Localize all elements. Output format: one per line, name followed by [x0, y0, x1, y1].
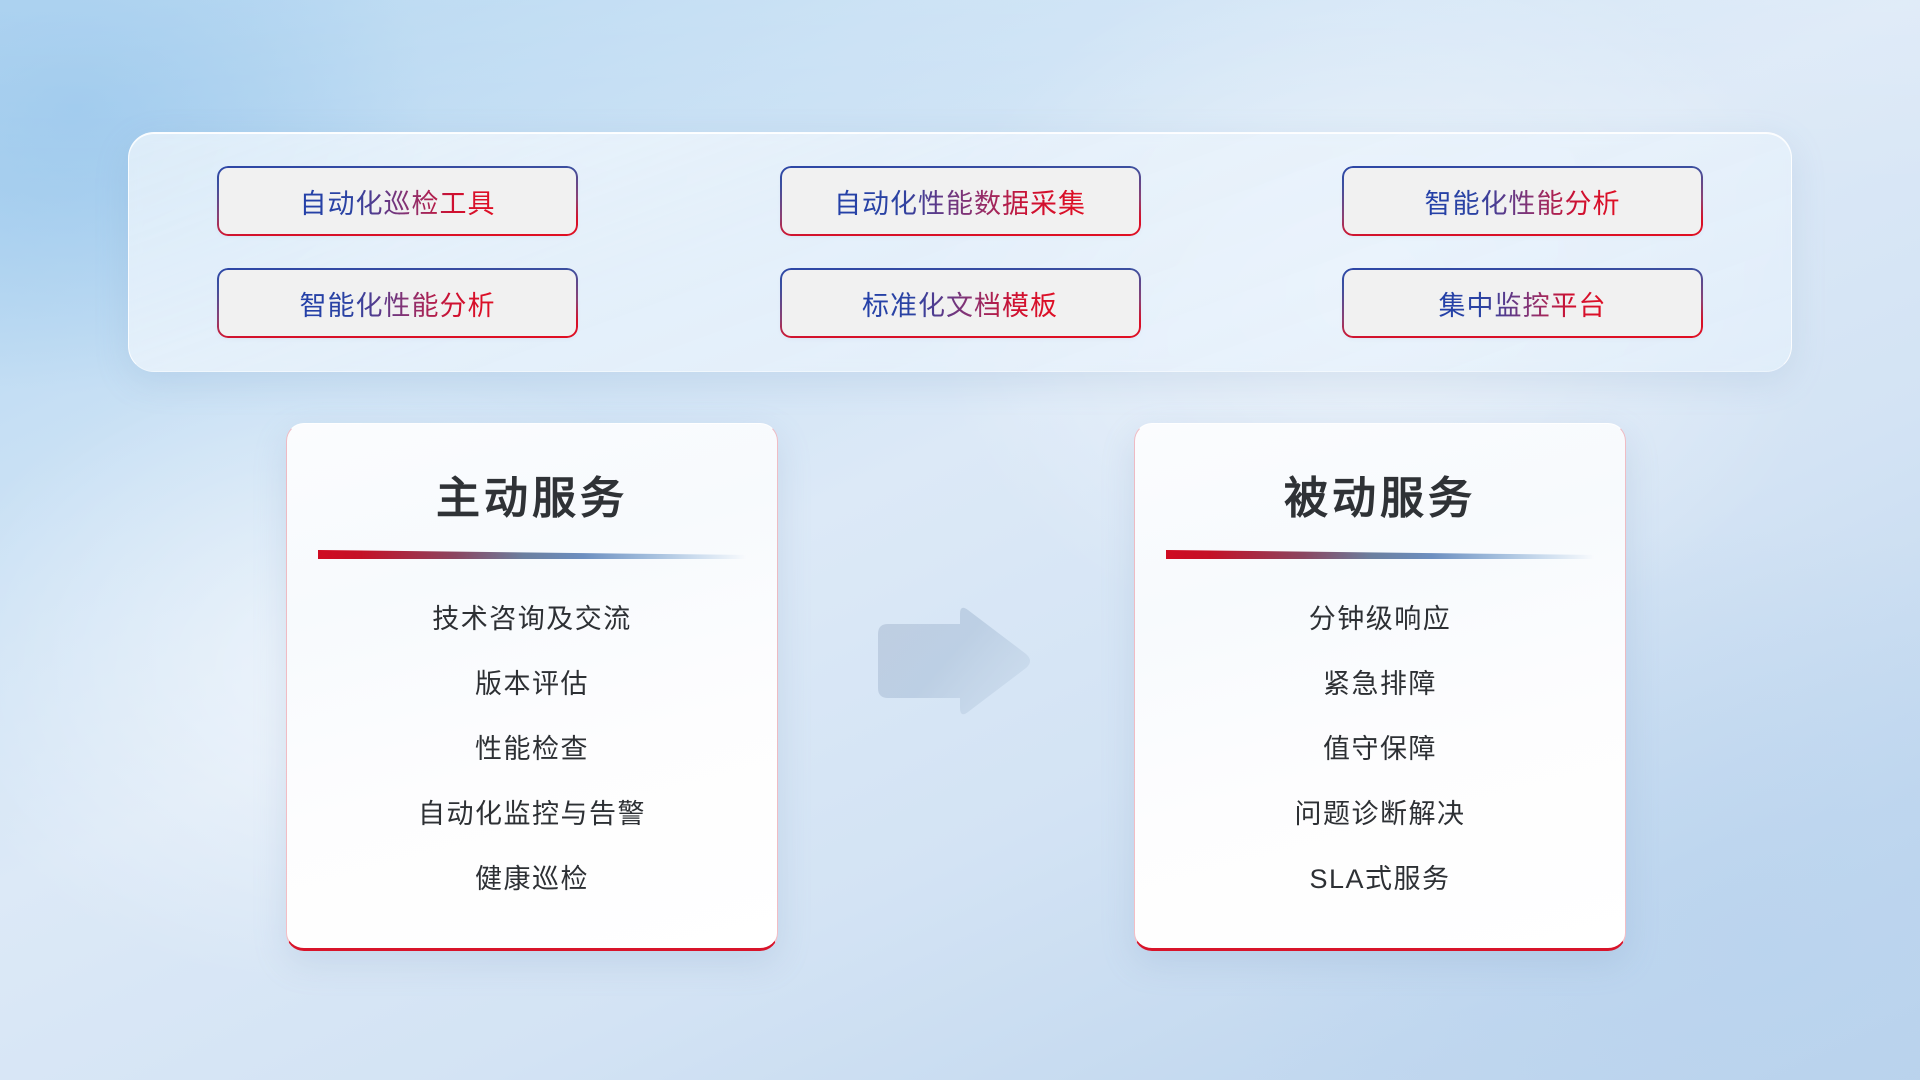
- capability-row-1: 自动化巡检工具 自动化性能数据采集 智能化性能分析: [219, 168, 1701, 234]
- arrow-right-icon: [868, 602, 1032, 720]
- capability-pill[interactable]: 智能化性能分析: [219, 270, 576, 336]
- capability-pill-label: 标准化文档模板: [862, 284, 1058, 323]
- capability-pill-label: 智能化性能分析: [1425, 182, 1621, 221]
- capability-pill-label: 自动化性能数据采集: [834, 182, 1086, 221]
- capability-pill-label: 集中监控平台: [1439, 284, 1607, 323]
- card-list-item: SLA式服务: [1309, 857, 1450, 896]
- card-list-item: 版本评估: [475, 662, 589, 701]
- capability-row-2: 智能化性能分析 标准化文档模板 集中监控平台: [219, 270, 1701, 336]
- service-card-passive: 被动服务 分钟级响应 紧急排障 值守保障 问题诊断解决 SLA式服务: [1134, 423, 1626, 951]
- card-list-item: 技术咨询及交流: [432, 597, 632, 636]
- capability-panel: 自动化巡检工具 自动化性能数据采集 智能化性能分析 智能化性能分析 标准化文档模…: [128, 132, 1792, 372]
- card-item-list: 分钟级响应 紧急排障 值守保障 问题诊断解决 SLA式服务: [1135, 597, 1625, 896]
- card-list-item: 分钟级响应: [1309, 597, 1452, 636]
- card-divider: [1166, 550, 1594, 559]
- card-list-item: 值守保障: [1323, 727, 1437, 766]
- capability-pill[interactable]: 自动化巡检工具: [219, 168, 576, 234]
- capability-pill-label: 智能化性能分析: [300, 284, 496, 323]
- service-card-active: 主动服务 技术咨询及交流 版本评估 性能检查 自动化监控与告警 健康巡检: [286, 423, 778, 951]
- card-title: 主动服务: [436, 462, 628, 526]
- card-list-item: 自动化监控与告警: [418, 792, 646, 831]
- capability-pill[interactable]: 智能化性能分析: [1344, 168, 1701, 234]
- card-item-list: 技术咨询及交流 版本评估 性能检查 自动化监控与告警 健康巡检: [287, 597, 777, 896]
- card-title: 被动服务: [1284, 462, 1476, 526]
- capability-pill[interactable]: 标准化文档模板: [782, 270, 1139, 336]
- card-list-item: 健康巡检: [475, 857, 589, 896]
- card-list-item: 问题诊断解决: [1295, 792, 1466, 831]
- capability-pill[interactable]: 自动化性能数据采集: [782, 168, 1139, 234]
- capability-pill[interactable]: 集中监控平台: [1344, 270, 1701, 336]
- capability-pill-label: 自动化巡检工具: [300, 182, 496, 221]
- card-list-item: 紧急排障: [1323, 662, 1437, 701]
- card-list-item: 性能检查: [475, 727, 589, 766]
- card-divider: [318, 550, 746, 559]
